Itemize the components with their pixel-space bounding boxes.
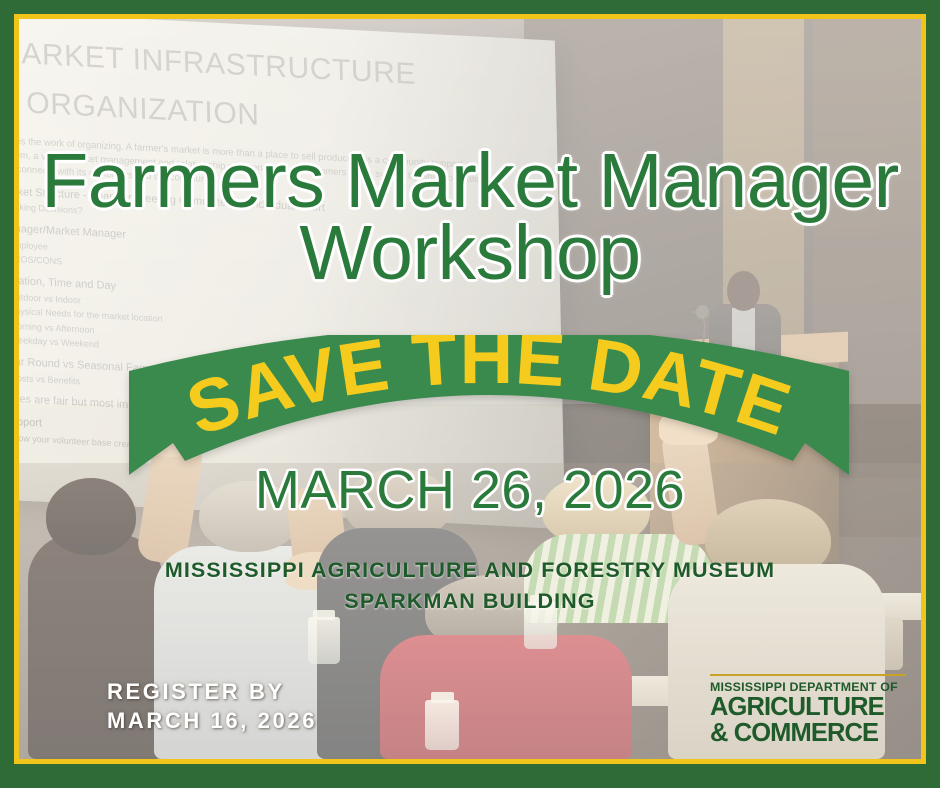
mdac-logo: MISSISSIPPI DEPARTMENT OF AGRICULTURE & … xyxy=(710,674,906,746)
venue-block: MISSISSIPPI AGRICULTURE AND FORESTRY MUS… xyxy=(19,555,921,616)
logo-line-2: AGRICULTURE xyxy=(710,694,906,720)
event-date: MARCH 26, 2026 xyxy=(19,459,921,521)
poster-content: Farmers Market Manager Workshop SAVE THE… xyxy=(19,19,921,759)
page-title: Farmers Market Manager Workshop xyxy=(19,145,921,290)
venue-line-2: SPARKMAN BUILDING xyxy=(19,586,921,617)
logo-rule xyxy=(710,674,906,676)
title-line-2: Workshop xyxy=(19,217,921,289)
register-line-1: REGISTER BY xyxy=(107,677,317,706)
register-line-2: MARCH 16, 2026 xyxy=(107,706,317,735)
flyer-poster: MARKET INFRASTRUCTURE & ORGANIZATION com… xyxy=(0,0,940,788)
registration-deadline: REGISTER BY MARCH 16, 2026 xyxy=(107,677,317,736)
logo-line-3: & COMMERCE xyxy=(710,720,906,746)
ribbon-text-wrapper: SAVE THE DATE xyxy=(129,335,849,475)
save-the-date-ribbon: SAVE THE DATE xyxy=(129,335,849,475)
venue-line-1: MISSISSIPPI AGRICULTURE AND FORESTRY MUS… xyxy=(19,555,921,586)
ribbon-label: SAVE THE DATE xyxy=(177,335,801,451)
poster-inner-frame: MARKET INFRASTRUCTURE & ORGANIZATION com… xyxy=(14,14,926,764)
